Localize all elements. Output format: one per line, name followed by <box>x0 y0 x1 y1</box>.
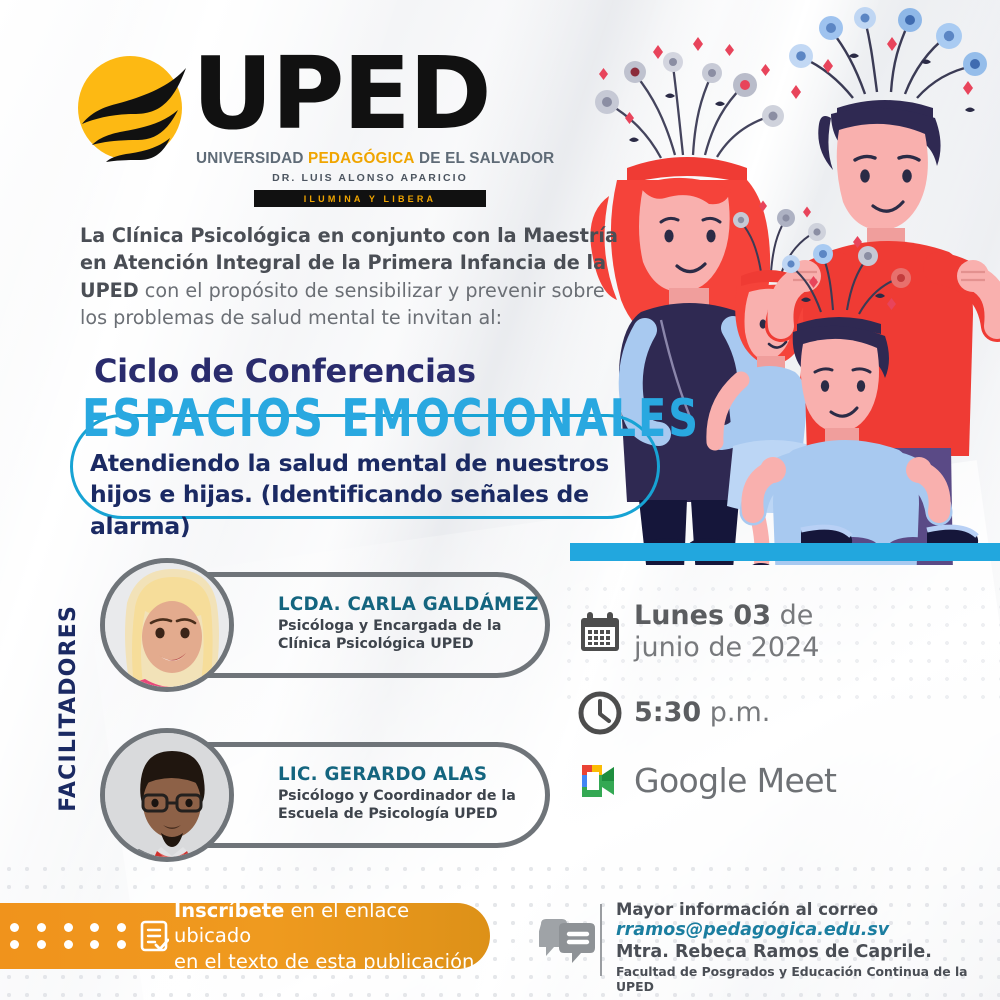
event-info: Lunes 03 de junio de 2024 5:30 p.m. <box>578 600 978 827</box>
contact-department: Facultad de Posgrados y Educación Contin… <box>616 964 1000 994</box>
logo-founder-line: DR. LUIS ALONSO APARICIO <box>196 172 544 184</box>
intro-paragraph: La Clínica Psicológica en conjunto con l… <box>80 222 620 332</box>
event-date-row: Lunes 03 de junio de 2024 <box>578 600 978 665</box>
facilitators-label-text: FACILITADORES <box>56 605 81 812</box>
event-time-text: 5:30 p.m. <box>634 697 770 729</box>
clipboard-check-icon <box>134 919 174 953</box>
title-kicker: Ciclo de Conferencias <box>94 352 476 390</box>
event-time-value: 5:30 <box>634 697 701 728</box>
facilitator-role-line1: Psicóloga y Encargada de la <box>278 617 548 635</box>
uped-sun-wave-logo-mark <box>74 52 194 172</box>
logo-subtitle-post: DE EL SALVADOR <box>415 150 555 167</box>
facilitator-card: LCDA. CARLA GALDÁMEZ Psicóloga y Encarga… <box>100 558 550 693</box>
contact-person-name: Mtra. Rebeca Ramos de Caprile. <box>616 942 1000 962</box>
intro-rest: con el propósito de sensibilizar y preve… <box>80 279 605 329</box>
logo-subtitle-pre: UNIVERSIDAD <box>196 150 308 167</box>
title-subtitle: Atendiendo la salud mental de nuestros h… <box>90 448 650 542</box>
logo-subtitle-mid: PEDAGÓGICA <box>308 150 415 167</box>
conference-title-block: Ciclo de Conferencias ESPACIOS EMOCIONAL… <box>56 352 676 532</box>
logo-tagline: ILUMINA Y LIBERA <box>304 194 437 204</box>
facilitator-role-line1: Psicólogo y Coordinador de la <box>278 787 548 805</box>
clock-icon <box>578 691 634 735</box>
event-time-meridiem: p.m. <box>701 697 770 728</box>
contact-details: Mayor información al correo rramos@pedag… <box>616 898 1000 986</box>
event-date-day: Lunes 03 <box>634 600 771 631</box>
facilitator-info: LIC. GERARDO ALAS Psicólogo y Coordinado… <box>278 764 548 823</box>
banner-dot-decoration <box>0 923 134 949</box>
logo-subtitle: UNIVERSIDAD PEDAGÓGICA DE EL SALVADOR <box>196 150 544 168</box>
facilitator-role-line2: Clínica Psicológica UPED <box>278 635 548 653</box>
register-banner[interactable]: Inscríbete en el enlace ubicado en el te… <box>0 903 490 969</box>
uped-logo: UPED UNIVERSIDAD PEDAGÓGICA DE EL SALVAD… <box>74 48 544 193</box>
facilitator-info: LCDA. CARLA GALDÁMEZ Psicóloga y Encarga… <box>278 594 548 653</box>
contact-divider <box>600 904 602 976</box>
facilitator-name: LIC. GERARDO ALAS <box>278 764 548 785</box>
contact-heading: Mayor información al correo <box>616 900 1000 919</box>
facilitator-photo-gerardo-alas <box>100 728 234 862</box>
google-meet-icon <box>578 761 634 801</box>
logo-tagline-bar: ILUMINA Y LIBERA <box>254 190 486 207</box>
contact-email[interactable]: rramos@pedagogica.edu.sv <box>616 920 1000 940</box>
facilitator-role: Psicólogo y Coordinador de la Escuela de… <box>278 787 548 823</box>
facilitator-role: Psicóloga y Encargada de la Clínica Psic… <box>278 617 548 653</box>
register-banner-text: Inscríbete en el enlace ubicado en el te… <box>174 898 490 974</box>
facilitator-name: LCDA. CARLA GALDÁMEZ <box>278 594 548 615</box>
google-meet-label: Google Meet <box>634 761 836 800</box>
event-date-month-year: junio de 2024 <box>634 632 819 664</box>
contact-block: Mayor información al correo rramos@pedag… <box>536 898 1000 986</box>
chat-bubbles-icon <box>536 898 600 986</box>
facilitator-role-line2: Escuela de Psicología UPED <box>278 805 548 823</box>
calendar-icon <box>578 610 634 654</box>
title-headline: ESPACIOS EMOCIONALES <box>82 388 700 448</box>
event-platform-row: Google Meet <box>578 761 978 801</box>
event-date-text: Lunes 03 de junio de 2024 <box>634 600 819 665</box>
poster-canvas: UPED UNIVERSIDAD PEDAGÓGICA DE EL SALVAD… <box>0 0 1000 1000</box>
event-time-row: 5:30 p.m. <box>578 691 978 735</box>
event-date-connector: de <box>771 600 813 631</box>
register-banner-line2: en el texto de esta publicación. <box>174 949 490 974</box>
facilitator-photo-carla-galdamez <box>100 558 234 692</box>
register-banner-bold: Inscríbete <box>174 899 284 922</box>
facilitator-card: LIC. GERARDO ALAS Psicólogo y Coordinado… <box>100 728 550 863</box>
facilitators-section-label: FACILITADORES <box>48 566 88 851</box>
illustration-ground-bar <box>570 543 1000 561</box>
uped-wordmark: UPED <box>192 44 490 144</box>
